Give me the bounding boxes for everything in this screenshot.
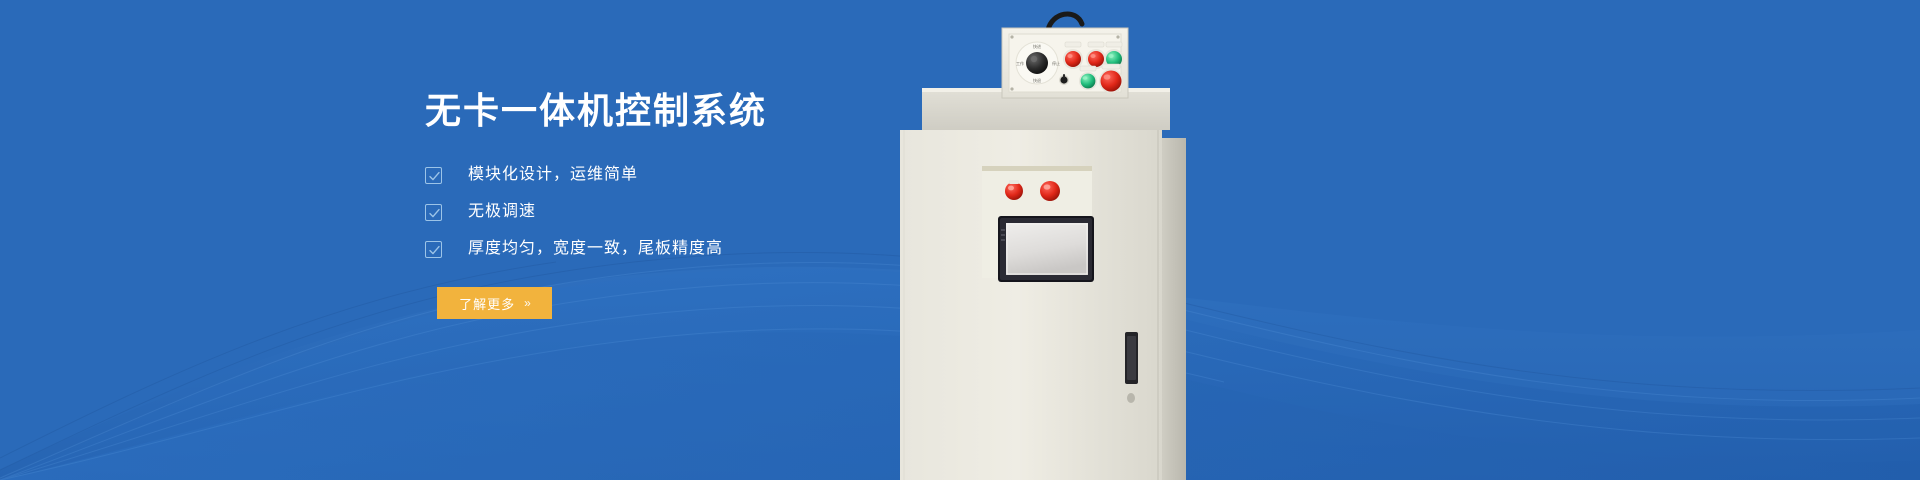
- check-square-icon: [425, 204, 442, 221]
- cabinet-lock-icon: [1127, 393, 1135, 403]
- learn-more-label: 了解更多: [459, 294, 515, 313]
- svg-text:停止: 停止: [1052, 60, 1060, 66]
- hero-content: 无卡一体机控制系统 模块化设计，运维简单 无极调速: [425, 88, 1185, 319]
- svg-text:快进: 快进: [1033, 43, 1041, 49]
- svg-text:工作: 工作: [1016, 60, 1024, 66]
- feature-label: 厚度均匀，宽度一致，尾板精度高: [468, 239, 723, 259]
- hero-banner: 无卡一体机控制系统 模块化设计，运维简单 无极调速: [0, 0, 1920, 480]
- list-item: 厚度均匀，宽度一致，尾板精度高: [425, 237, 1185, 261]
- list-item: 无极调速: [425, 200, 1185, 224]
- learn-more-button[interactable]: 了解更多 »: [437, 287, 552, 319]
- svg-text:快退: 快退: [1033, 77, 1041, 83]
- chevron-right-icon: »: [524, 296, 530, 310]
- page-title: 无卡一体机控制系统: [425, 88, 1185, 133]
- list-item: 模块化设计，运维简单: [425, 163, 1185, 187]
- control-box: 快进 快退 工作 停止: [1002, 14, 1128, 98]
- check-square-icon: [425, 241, 442, 258]
- cabinet-lock-inner: [1127, 336, 1136, 380]
- feature-list: 模块化设计，运维简单 无极调速 厚度均匀，宽度一致，尾板精度高: [425, 163, 1185, 261]
- feature-label: 模块化设计，运维简单: [468, 165, 638, 185]
- push-button-red-1[interactable]: [1063, 42, 1083, 69]
- check-square-icon: [425, 167, 442, 184]
- push-button-green-2[interactable]: [1079, 66, 1097, 90]
- feature-label: 无极调速: [468, 202, 536, 222]
